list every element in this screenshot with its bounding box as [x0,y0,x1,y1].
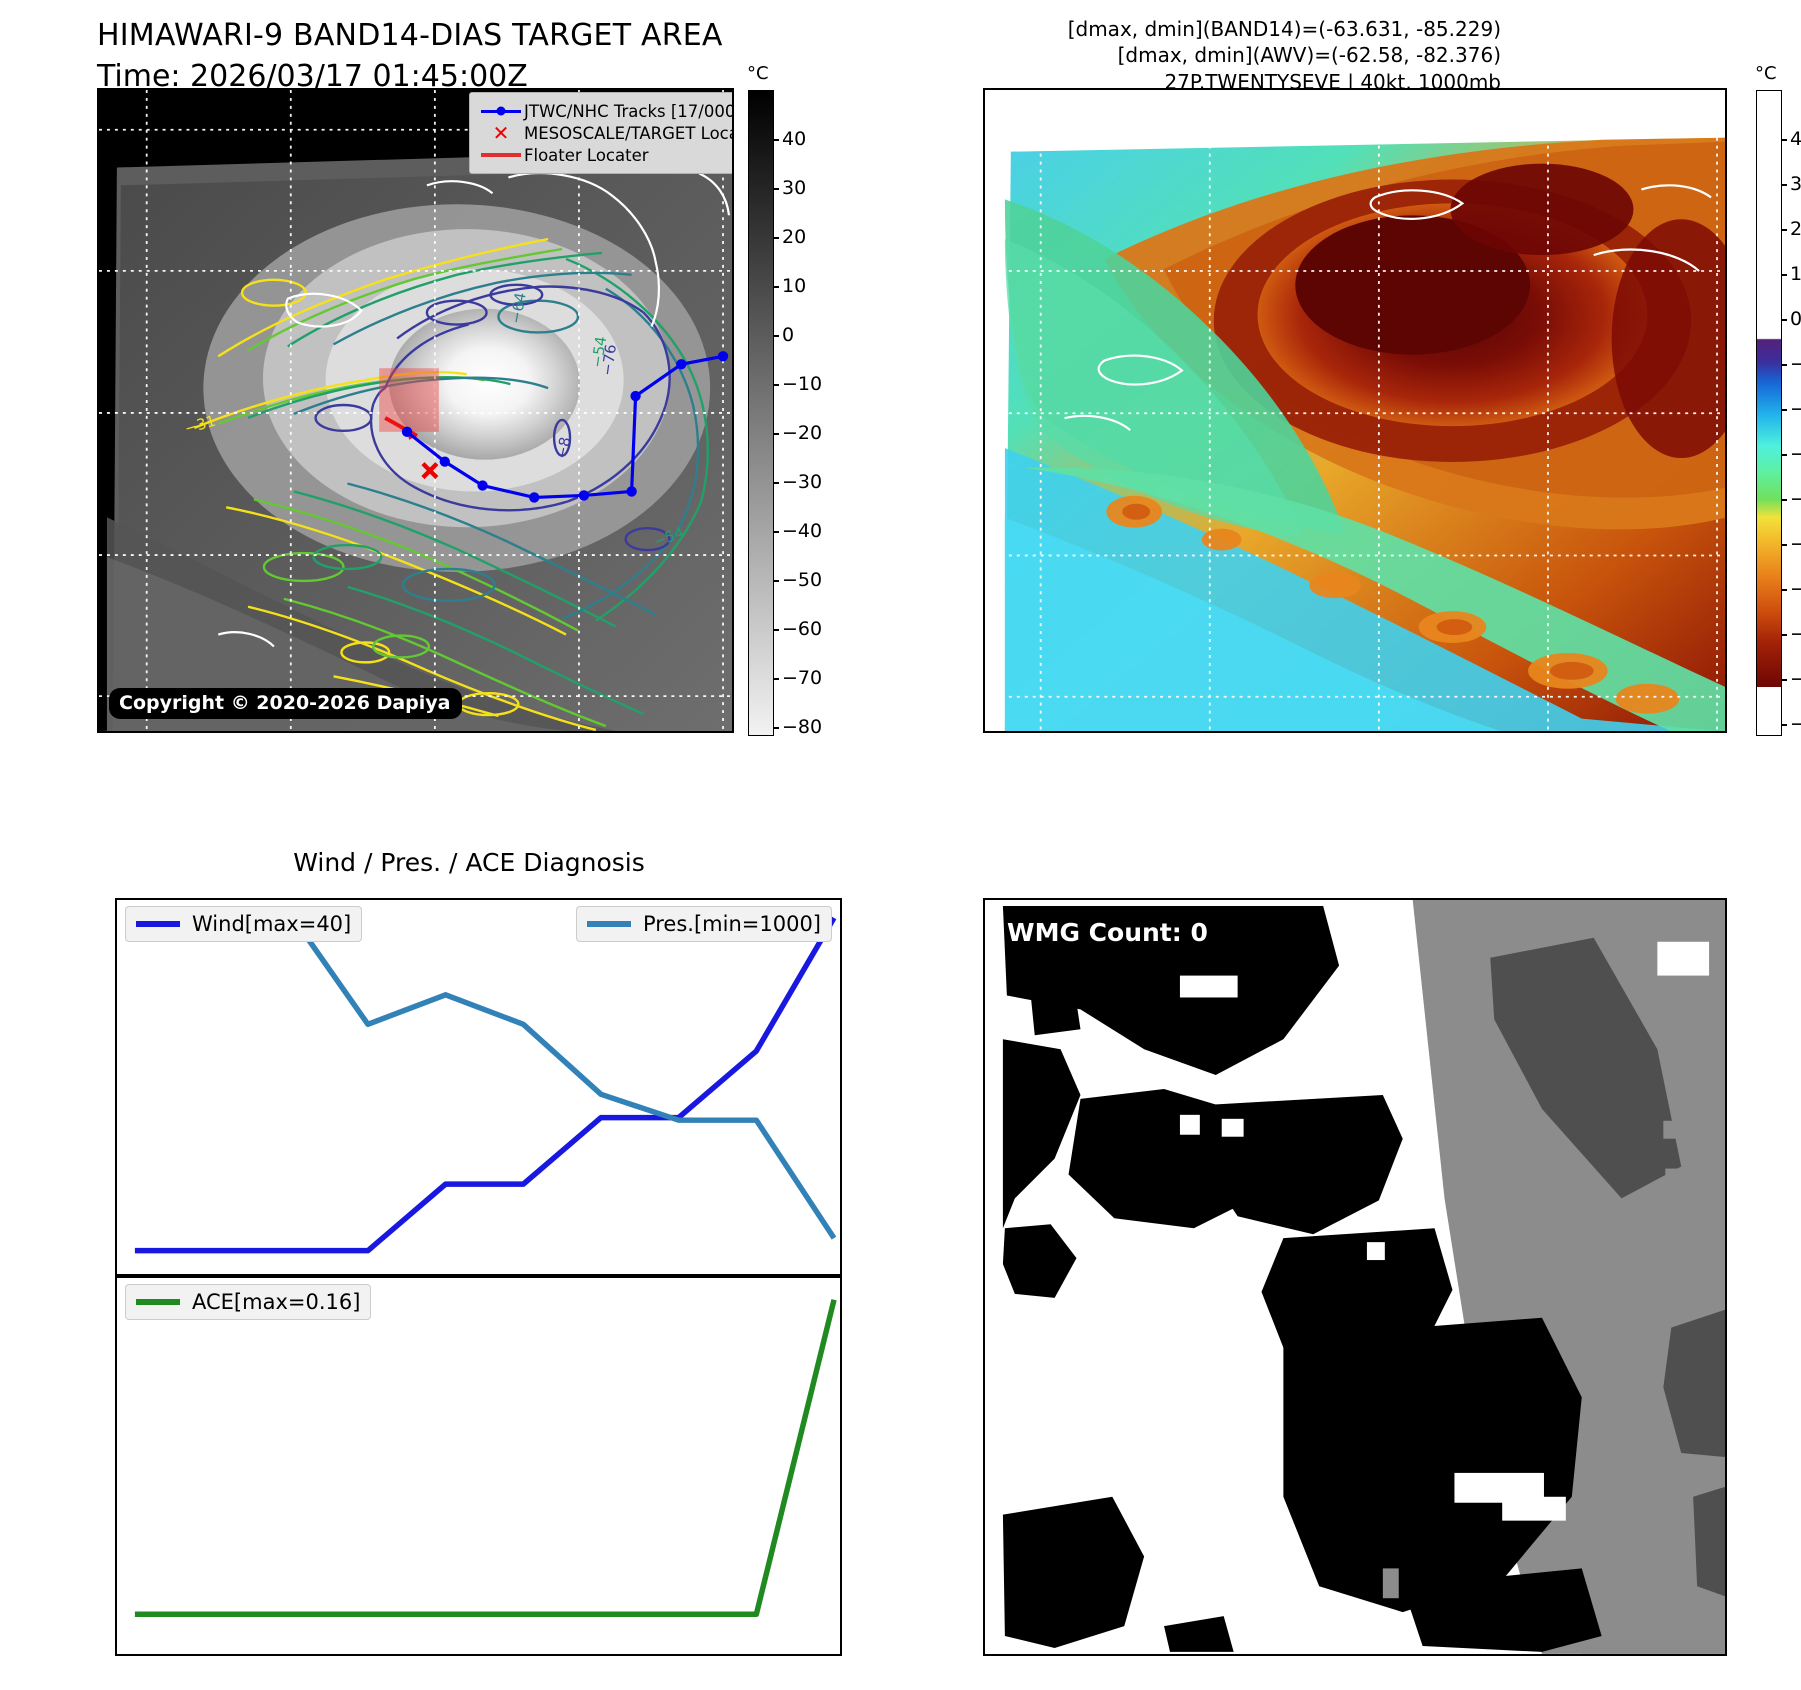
colorbar-unit: °C [747,63,769,84]
cbar-gray-tick: 30 [782,177,806,199]
dashboard-root: HIMAWARI-9 BAND14-DIAS TARGET AREA Time:… [0,0,1801,1690]
cbar-gray-tick: 40 [782,128,806,150]
wmg-mask-panel[interactable]: WMG Count: 0 [983,898,1727,1656]
cbar-gray-tick: −80 [782,716,822,738]
floater-locater-box [379,368,439,432]
cbar-ir-tick: 30 [1790,173,1801,195]
ir-image: −31 −64 −54 −54 −76 −8 [99,90,732,731]
title-line: HIMAWARI-9 BAND14-DIAS TARGET AREA [97,18,723,53]
x-marker-icon: ✕ [478,123,524,143]
legend-item-floater: Floater Locater [478,144,726,166]
cbar-ir-tick: −20 [1790,398,1801,420]
wind-pressure-plot [117,900,840,1276]
cbar-ir-tick: 10 [1790,263,1801,285]
track-line-icon [478,110,524,113]
ace-chart[interactable]: ACE[max=0.16] 0.000.020.040.060.080.100.… [115,1276,842,1656]
pressure-legend-label: Pres.[min=1000] [643,912,821,936]
cbar-ir-tick: 20 [1790,218,1801,240]
ace-legend[interactable]: ACE[max=0.16] [125,1284,371,1320]
cbar-gray-tick: −60 [782,618,822,640]
ir-colorbar-gradient [1757,91,1781,687]
ir-legend[interactable]: JTWC/NHC Tracks [17/0000Z] ✕ MESOSCALE/T… [469,92,734,174]
wind-legend-label: Wind[max=40] [192,912,351,936]
cbar-ir-tick: −60 [1790,578,1801,600]
wind-pressure-chart[interactable]: Wind[max=40] Pres.[min=1000] 15202530354… [115,898,842,1276]
wind-legend[interactable]: Wind[max=40] [125,906,362,942]
ace-legend-label: ACE[max=0.16] [192,1290,360,1314]
awv-image [985,90,1725,732]
pressure-legend-swatch [587,921,631,927]
cbar-gray-tick: −30 [782,471,822,493]
cbar-gray-tick: −40 [782,520,822,542]
cbar-ir-tick: −30 [1790,443,1801,465]
legend-item-target: ✕ MESOSCALE/TARGET Location [478,122,726,144]
cbar-gray-tick: −20 [782,422,822,444]
cbar-gray-tick: −70 [782,667,822,689]
legend-item-track: JTWC/NHC Tracks [17/0000Z] [478,100,726,122]
colorbar-unit: °C [1755,63,1777,84]
cbar-gray-tick: 20 [782,226,806,248]
legend-label-floater: Floater Locater [524,146,649,165]
meta-band14: [dmax, dmin](BAND14)=(-63.631, -85.229) [1068,16,1501,42]
wind-legend-swatch [136,921,180,927]
awv-satellite-panel[interactable]: 8°S 10°S 12°S 14°S 16°S 152°E 154°E 156°… [983,88,1727,733]
cbar-ir-tick: −10 [1790,353,1801,375]
ace-legend-swatch [136,1299,180,1305]
cbar-ir-tick: −70 [1790,623,1801,645]
cbar-ir-tick: 0 [1790,308,1801,330]
meta-awv: [dmax, dmin](AWV)=(-62.58, -82.376) [1068,42,1501,68]
floater-line-icon [478,153,524,157]
ir-satellite-panel[interactable]: −31 −64 −54 −54 −76 −8 [97,88,734,733]
wmg-count-label: WMG Count: 0 [1007,918,1208,947]
ir-colorbar: °C 40 30 20 10 0 −10 −20 −30 −40 −50 −60… [1756,90,1782,736]
diagnosis-title: Wind / Pres. / ACE Diagnosis [97,848,841,877]
cbar-ir-tick: −90 [1790,713,1801,735]
cbar-gray-tick: −50 [782,569,822,591]
cbar-ir-tick: −80 [1790,668,1801,690]
wmg-mask-image [985,900,1725,1654]
gray-colorbar: °C 40 30 20 10 0 −10 −20 −30 −40 −50 −60… [748,90,774,736]
pressure-legend[interactable]: Pres.[min=1000] [576,906,832,942]
ace-plot [117,1278,840,1656]
cbar-ir-tick: 40 [1790,128,1801,150]
cbar-ir-tick: −40 [1790,488,1801,510]
cbar-gray-tick: 10 [782,275,806,297]
cbar-ir-tick: −50 [1790,533,1801,555]
copyright-badge: Copyright © 2020-2026 Dapiya [109,688,462,719]
legend-label-track: JTWC/NHC Tracks [17/0000Z] [524,102,734,121]
page-title: HIMAWARI-9 BAND14-DIAS TARGET AREA Time:… [97,18,723,94]
metadata-block: [dmax, dmin](BAND14)=(-63.631, -85.229) … [1068,16,1501,95]
legend-label-target: MESOSCALE/TARGET Location [524,124,734,143]
cbar-gray-tick: 0 [782,324,794,346]
cbar-gray-tick: −10 [782,373,822,395]
